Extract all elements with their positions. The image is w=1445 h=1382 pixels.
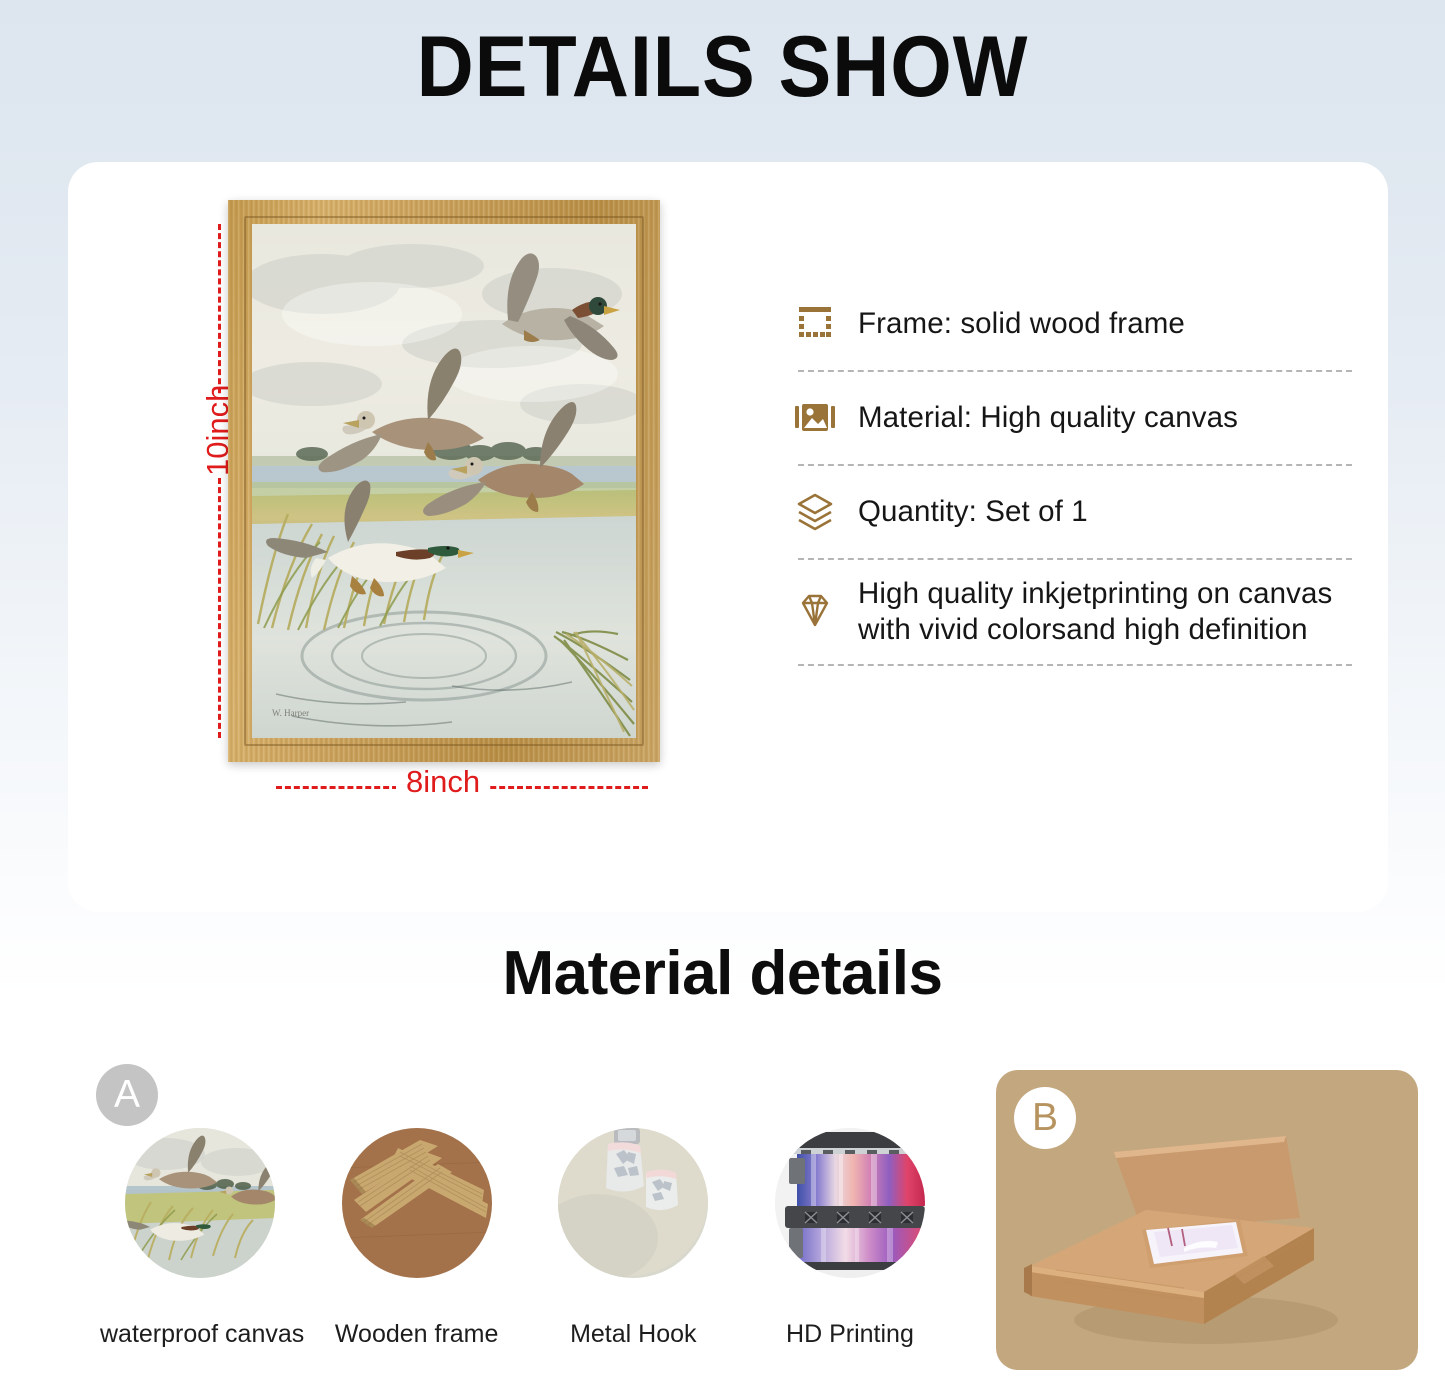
width-measure-label: 8inch bbox=[396, 764, 490, 800]
framed-artwork-block: 10inch 8inch bbox=[160, 186, 660, 816]
height-measure-line bbox=[218, 224, 221, 738]
hd-printing-thumb-svg bbox=[775, 1128, 925, 1278]
feature-row-quantity: Quantity: Set of 1 bbox=[784, 466, 1354, 558]
thumb-label-canvas: waterproof canvas bbox=[100, 1320, 300, 1349]
feature-text-material: Material: High quality canvas bbox=[858, 400, 1238, 436]
badge-b: B bbox=[1014, 1087, 1076, 1149]
diamond-icon bbox=[786, 587, 844, 637]
metal-hook-thumb-svg bbox=[558, 1128, 708, 1278]
frame-icon bbox=[786, 299, 844, 349]
thumb-label-hd-printing: HD Printing bbox=[750, 1320, 950, 1349]
wood-picture-frame: W. Harper bbox=[228, 200, 660, 762]
thumb-item-canvas: waterproof canvas bbox=[100, 1128, 300, 1349]
thumb-label-wooden-frame: Wooden frame bbox=[317, 1320, 517, 1349]
feature-text-quantity: Quantity: Set of 1 bbox=[858, 494, 1088, 530]
badge-a: A bbox=[96, 1064, 158, 1126]
thumb-item-metal-hook: Metal Hook bbox=[533, 1128, 733, 1349]
feature-row-frame: Frame: solid wood frame bbox=[784, 278, 1354, 370]
feature-text-printing: High quality inkjetprinting on canvas wi… bbox=[858, 576, 1332, 648]
duck-painting-canvas: W. Harper bbox=[252, 224, 636, 738]
feature-text-frame: Frame: solid wood frame bbox=[858, 306, 1185, 342]
wooden-frame-thumb-svg bbox=[342, 1128, 492, 1278]
material-thumbnail-list: waterproof canvas bbox=[100, 1128, 950, 1349]
thumb-item-hd-printing: HD Printing bbox=[750, 1128, 950, 1349]
duck-canvas-thumb-svg bbox=[125, 1128, 275, 1278]
page-title: DETAILS SHOW bbox=[58, 18, 1387, 117]
duck-painting-svg: W. Harper bbox=[252, 224, 636, 738]
hd-printing-thumbnail bbox=[775, 1128, 925, 1278]
feature-text-printing-line2: with vivid colorsand high definition bbox=[858, 613, 1308, 646]
feature-row-printing: High quality inkjetprinting on canvas wi… bbox=[784, 560, 1354, 664]
svg-text:W. Harper: W. Harper bbox=[272, 708, 309, 718]
layers-icon bbox=[786, 487, 844, 537]
feature-text-printing-line1: High quality inkjetprinting on canvas bbox=[858, 577, 1332, 610]
thumb-label-metal-hook: Metal Hook bbox=[533, 1320, 733, 1349]
feature-list: Frame: solid wood frame Material: High q… bbox=[784, 278, 1354, 666]
wooden-frame-thumbnail bbox=[342, 1128, 492, 1278]
thumb-item-wooden-frame: Wooden frame bbox=[317, 1128, 517, 1349]
feature-row-material: Material: High quality canvas bbox=[784, 372, 1354, 464]
duck-canvas-thumbnail bbox=[125, 1128, 275, 1278]
details-card: 10inch 8inch bbox=[68, 162, 1388, 912]
section-title-material-details: Material details bbox=[0, 938, 1445, 1009]
feature-separator bbox=[798, 664, 1352, 666]
metal-hook-thumbnail bbox=[558, 1128, 708, 1278]
picture-icon bbox=[786, 393, 844, 443]
